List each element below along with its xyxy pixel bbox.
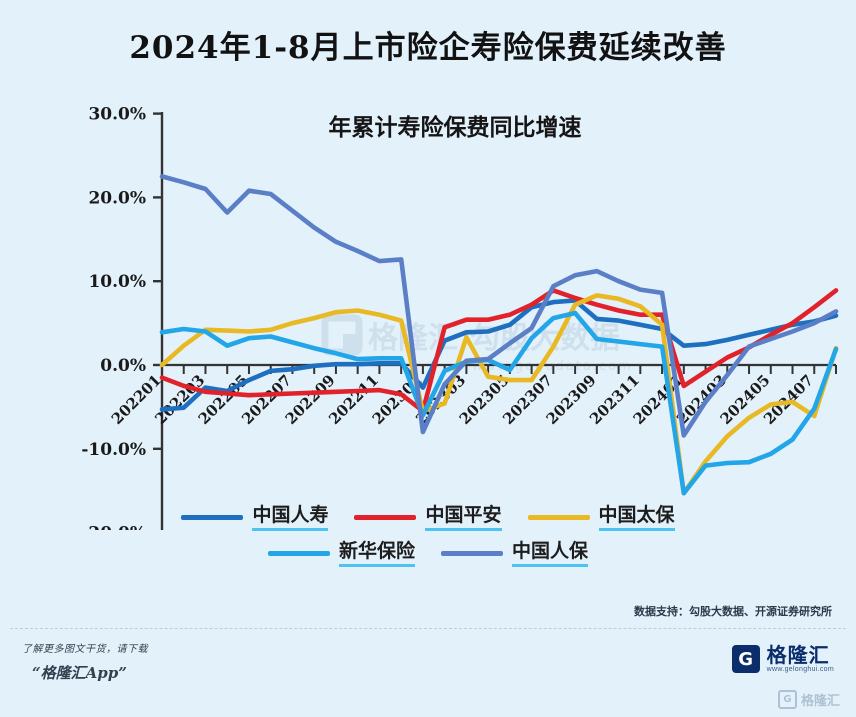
chart-legend: 中国人寿 中国平安 中国太保 新华保险 中国人保 — [0, 505, 856, 577]
infographic-card: 2024年1-8月上市险企寿险保费延续改善 格隆汇勾股大数据www.goguda… — [0, 0, 856, 717]
legend-swatch-ping-an — [354, 515, 416, 520]
brand-text: 格隆汇 www.gelonghui.com — [767, 645, 834, 673]
legend-item-cpic[interactable]: 中国太保 — [528, 505, 675, 531]
legend-item-china-life[interactable]: 中国人寿 — [181, 505, 328, 531]
corner-watermark-label: 格隆汇 — [801, 690, 840, 709]
legend-label-cpic: 中国太保 — [599, 505, 675, 531]
data-source-note: 数据支持：勾股大数据、开源证券研究所 — [634, 603, 832, 619]
corner-watermark: G 格隆汇 — [778, 690, 840, 709]
svg-text:10.0%: 10.0% — [88, 272, 146, 292]
chart-title: 年累计寿险保费同比增速 — [329, 114, 582, 141]
footer-divider — [10, 628, 846, 629]
app-promo-line1: 了解更多图文干货，请下载 — [22, 640, 148, 655]
legend-label-china-life: 中国人寿 — [252, 505, 328, 531]
legend-row-1: 中国人寿 中国平安 中国太保 — [0, 505, 856, 531]
brand-logo-icon: G — [732, 645, 760, 673]
corner-watermark-icon: G — [778, 690, 797, 709]
legend-row-2: 新华保险 中国人保 — [0, 541, 856, 567]
legend-swatch-cpic — [528, 515, 590, 520]
svg-text:-10.0%: -10.0% — [81, 440, 146, 460]
legend-item-new-china[interactable]: 新华保险 — [268, 541, 415, 567]
app-promo-line2: “格隆汇App” — [32, 662, 148, 683]
svg-text:0.0%: 0.0% — [100, 356, 146, 376]
legend-label-picc: 中国人保 — [512, 541, 588, 567]
svg-text:20.0%: 20.0% — [88, 188, 146, 208]
legend-label-new-china: 新华保险 — [339, 541, 415, 567]
legend-swatch-new-china — [268, 551, 330, 556]
brand-name: 格隆汇 — [767, 645, 834, 666]
brand-logo[interactable]: G 格隆汇 www.gelonghui.com — [732, 645, 834, 673]
app-promo: 了解更多图文干货，请下载 “格隆汇App” — [22, 640, 148, 683]
line-chart: 格隆汇勾股大数据www.gogudata.com30.0%20.0%10.0%0… — [0, 90, 856, 530]
legend-swatch-china-life — [181, 515, 243, 520]
legend-item-picc[interactable]: 中国人保 — [441, 541, 588, 567]
legend-swatch-picc — [441, 551, 503, 556]
svg-text:30.0%: 30.0% — [88, 105, 146, 125]
page-title: 2024年1-8月上市险企寿险保费延续改善 — [0, 22, 856, 67]
legend-label-ping-an: 中国平安 — [425, 505, 501, 531]
legend-item-ping-an[interactable]: 中国平安 — [354, 505, 501, 531]
brand-url: www.gelonghui.com — [767, 666, 834, 673]
